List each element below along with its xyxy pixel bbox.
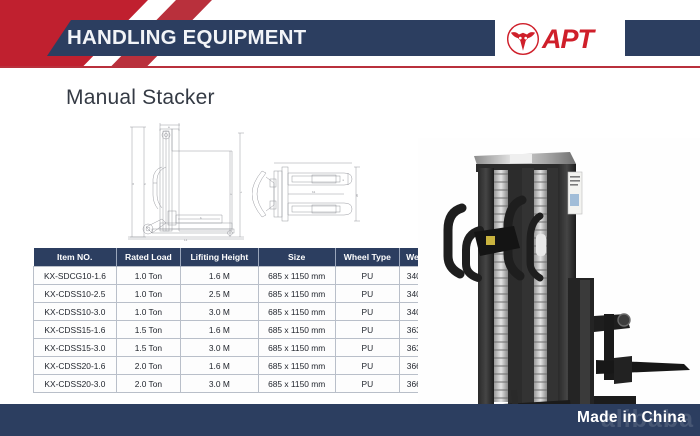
cell-size: 685 x 1150 mm bbox=[258, 267, 335, 285]
table-row: KX-CDSS15-3.0 1.5 Ton 3.0 M 685 x 1150 m… bbox=[34, 339, 441, 357]
cell-item-no: KX-CDSS20-1.6 bbox=[34, 357, 117, 375]
cell-rated-load: 1.0 Ton bbox=[116, 303, 180, 321]
page-footer: alibaba Made in China bbox=[0, 404, 700, 436]
svg-text:W: W bbox=[355, 194, 359, 197]
svg-text:b1: b1 bbox=[312, 190, 316, 194]
cell-lifting-height: 3.0 M bbox=[180, 339, 258, 357]
cell-rated-load: 1.5 Ton bbox=[116, 339, 180, 357]
cell-wheel-type: PU bbox=[335, 267, 400, 285]
column-header-item-no: Item NO. bbox=[34, 248, 117, 267]
cell-wheel-type: PU bbox=[335, 321, 400, 339]
page-header: HANDLING EQUIPMENT APT bbox=[0, 0, 700, 72]
cell-wheel-type: PU bbox=[335, 357, 400, 375]
cell-wheel-type: PU bbox=[335, 303, 400, 321]
table-row: KX-CDSS10-3.0 1.0 Ton 3.0 M 685 x 1150 m… bbox=[34, 303, 441, 321]
page-title: Manual Stacker bbox=[66, 86, 215, 110]
cell-item-no: KX-CDSS15-1.6 bbox=[34, 321, 117, 339]
table-row: KX-CDSS10-2.5 1.0 Ton 2.5 M 685 x 1150 m… bbox=[34, 285, 441, 303]
column-header-size: Size bbox=[258, 248, 335, 267]
cell-size: 685 x 1150 mm bbox=[258, 339, 335, 357]
cell-rated-load: 1.0 Ton bbox=[116, 285, 180, 303]
specification-table: Item NO. Rated Load Lifiting Height Size… bbox=[33, 248, 441, 393]
cell-lifting-height: 1.6 M bbox=[180, 357, 258, 375]
column-header-lifting-height: Lifiting Height bbox=[180, 248, 258, 267]
table-row: KX-CDSS15-1.6 1.5 Ton 1.6 M 685 x 1150 m… bbox=[34, 321, 441, 339]
svg-text:L: L bbox=[239, 191, 243, 193]
cell-size: 685 x 1150 mm bbox=[258, 357, 335, 375]
table-row: KX-CDSS20-3.0 2.0 Ton 3.0 M 685 x 1150 m… bbox=[34, 375, 441, 393]
bull-head-circle-logo-icon bbox=[505, 21, 541, 57]
cell-lifting-height: 1.6 M bbox=[180, 321, 258, 339]
cell-item-no: KX-CDSS20-3.0 bbox=[34, 375, 117, 393]
table-row: KX-CDSS20-1.6 2.0 Ton 1.6 M 685 x 1150 m… bbox=[34, 357, 441, 375]
table-header-row: Item NO. Rated Load Lifiting Height Size… bbox=[34, 248, 441, 267]
header-banner-title: HANDLING EQUIPMENT bbox=[67, 26, 306, 50]
column-header-rated-load: Rated Load bbox=[116, 248, 180, 267]
cell-wheel-type: PU bbox=[335, 375, 400, 393]
product-photo bbox=[418, 138, 700, 436]
svg-text:c: c bbox=[229, 193, 233, 195]
svg-text:e: e bbox=[341, 179, 345, 181]
cell-size: 685 x 1150 mm bbox=[258, 303, 335, 321]
side-view-dimension-drawing: H h L c L1 a b bbox=[122, 123, 252, 241]
cell-rated-load: 2.0 Ton bbox=[116, 357, 180, 375]
cell-size: 685 x 1150 mm bbox=[258, 285, 335, 303]
footer-made-in-china-label: Made in China bbox=[577, 409, 686, 427]
cell-size: 685 x 1150 mm bbox=[258, 375, 335, 393]
brand-logo: APT bbox=[505, 20, 617, 58]
cell-lifting-height: 3.0 M bbox=[180, 303, 258, 321]
cell-item-no: KX-SDCG10-1.6 bbox=[34, 267, 117, 285]
main-panel: Manual Stacker bbox=[0, 68, 700, 404]
cell-lifting-height: 1.6 M bbox=[180, 267, 258, 285]
product-datasheet-page: HANDLING EQUIPMENT APT Manual Stacker bbox=[0, 0, 700, 436]
cell-wheel-type: PU bbox=[335, 285, 400, 303]
svg-text:h: h bbox=[143, 183, 147, 185]
cell-wheel-type: PU bbox=[335, 339, 400, 357]
svg-text:b: b bbox=[200, 216, 202, 220]
header-banner-right-block bbox=[625, 20, 700, 56]
column-header-wheel-type: Wheel Type bbox=[335, 248, 400, 267]
cell-item-no: KX-CDSS15-3.0 bbox=[34, 339, 117, 357]
cell-lifting-height: 2.5 M bbox=[180, 285, 258, 303]
header-banner: HANDLING EQUIPMENT bbox=[47, 20, 495, 56]
top-view-dimension-drawing: W e b1 bbox=[252, 153, 362, 235]
cell-size: 685 x 1150 mm bbox=[258, 321, 335, 339]
cell-rated-load: 2.0 Ton bbox=[116, 375, 180, 393]
cell-item-no: KX-CDSS10-3.0 bbox=[34, 303, 117, 321]
cell-rated-load: 1.0 Ton bbox=[116, 267, 180, 285]
brand-logo-text: APT bbox=[542, 26, 593, 53]
cell-item-no: KX-CDSS10-2.5 bbox=[34, 285, 117, 303]
svg-text:L1: L1 bbox=[184, 238, 188, 241]
svg-text:H: H bbox=[131, 183, 135, 185]
svg-text:a: a bbox=[168, 125, 170, 129]
cell-rated-load: 1.5 Ton bbox=[116, 321, 180, 339]
table-row: KX-SDCG10-1.6 1.0 Ton 1.6 M 685 x 1150 m… bbox=[34, 267, 441, 285]
cell-lifting-height: 3.0 M bbox=[180, 375, 258, 393]
